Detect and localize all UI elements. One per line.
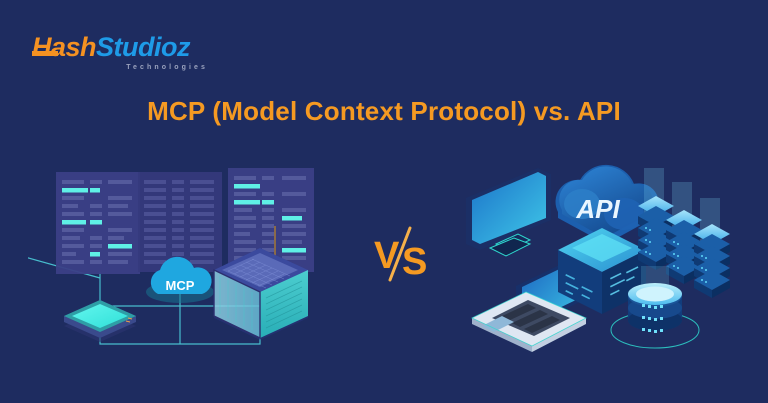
logo-h-crossbar-icon [32,51,58,56]
logo-name-studioz: Studioz [96,32,190,62]
logo-tagline: Technologies [32,64,212,71]
server-rack-right [694,224,730,298]
api-cloud-label: API [575,194,620,224]
versus-letter-v: V [374,235,400,277]
logo-wordmark: HashStudioz [32,34,212,61]
page-title: MCP (Model Context Protocol) vs. API [0,96,768,127]
mcp-cloud-label: MCP [166,278,195,293]
api-architecture-illustration: API [456,158,756,358]
logo-name-hash: Hash [32,32,96,62]
banner-canvas: HashStudioz Technologies MCP (Model Cont… [0,0,768,403]
code-panel-middle [138,172,222,272]
versus-letter-s: S [402,241,427,283]
versus-mark: V S [368,218,440,290]
brand-logo[interactable]: HashStudioz Technologies [32,34,212,80]
mcp-architecture-illustration: MCP [28,158,348,358]
code-panel-left [56,172,140,274]
desktop-monitor [466,168,551,256]
